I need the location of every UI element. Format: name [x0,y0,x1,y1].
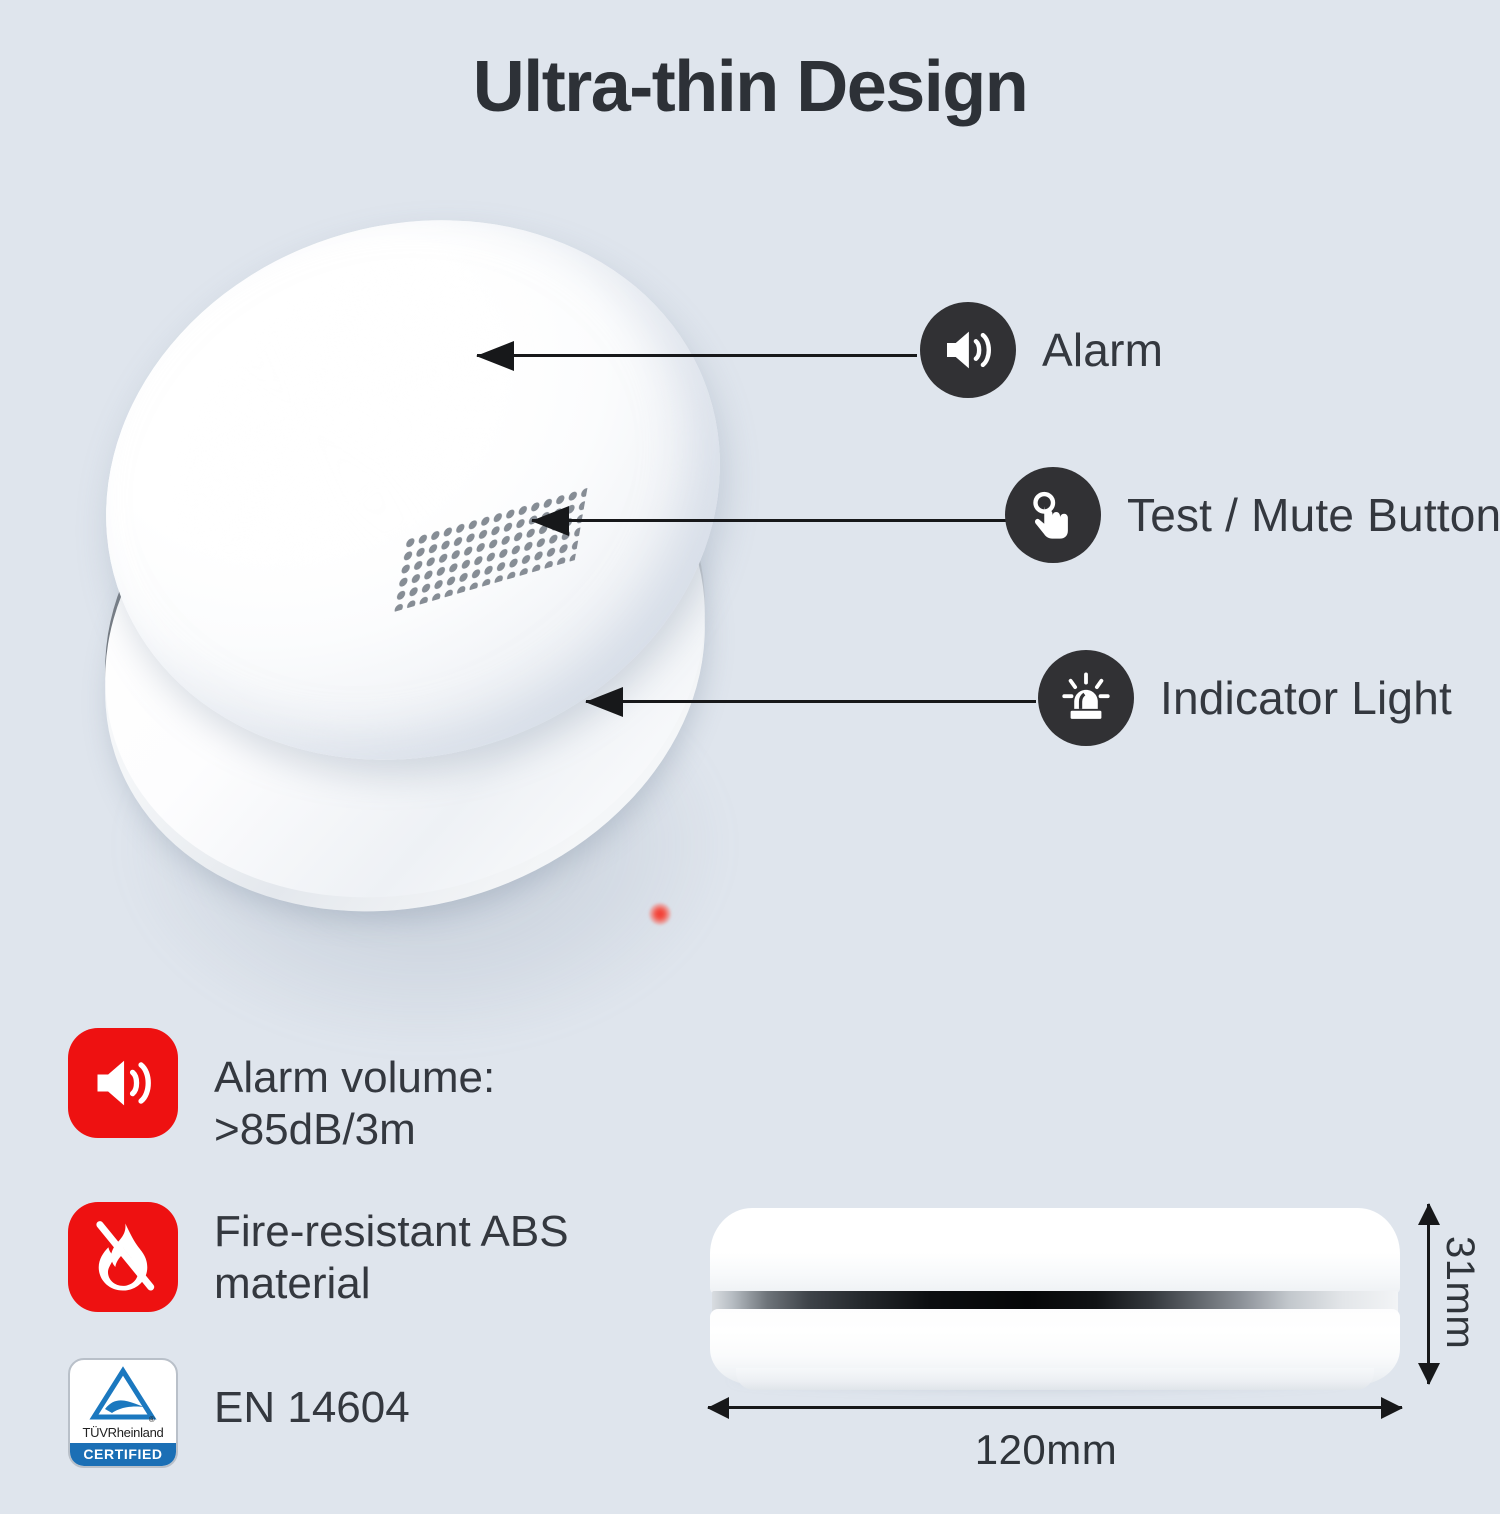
registered-trademark-icon: ® [149,1415,155,1424]
callout-indicator-light[interactable]: Indicator Light [1038,650,1452,746]
side-view-dimension-diagram: 31mm 120mm [690,1180,1480,1480]
dimension-arrow-width [708,1406,1402,1409]
page-title: Ultra-thin Design [0,46,1500,128]
feature-list: Alarm volume: >85dB/3m Fire-resistant AB… [68,1028,768,1514]
feature-label-alarm-volume: Alarm volume: >85dB/3m [214,1028,684,1156]
feature-certification[interactable]: TÜVRheinland ® CERTIFIED EN 14604 [68,1358,768,1468]
speaker-volume-icon [68,1028,178,1138]
tuv-mark: TÜVRheinland ® [70,1360,176,1443]
side-view-product [710,1208,1400,1366]
dimension-label-height: 31mm [1437,1236,1482,1349]
feature-label-certification: EN 14604 [214,1358,410,1434]
indicator-led-light [649,903,671,925]
callout-label-test-mute-button: Test / Mute Button [1127,488,1500,542]
callout-label-alarm: Alarm [1042,323,1163,377]
tuv-rheinland-certified-badge: TÜVRheinland ® CERTIFIED [68,1358,178,1468]
speaker-volume-icon [920,302,1016,398]
product-highlight [115,185,597,646]
side-view-foot [736,1368,1374,1390]
feature-fire-resistant[interactable]: Fire-resistant ABS material [68,1202,768,1312]
feature-label-fire-resistant: Fire-resistant ABS material [214,1202,684,1310]
side-view-top-cover [710,1208,1400,1294]
leader-line-indicator-light [586,700,1036,703]
tap-touch-hand-icon [1005,467,1101,563]
leader-line-test-mute [532,519,1017,522]
dimension-arrow-height [1427,1204,1430,1384]
siren-beacon-icon [1038,650,1134,746]
callout-test-mute-button[interactable]: Test / Mute Button [1005,467,1500,563]
feature-alarm-volume[interactable]: Alarm volume: >85dB/3m [68,1028,768,1156]
callout-label-indicator-light: Indicator Light [1160,671,1452,725]
tuv-certified-banner: CERTIFIED [70,1443,176,1466]
infographic-root: Ultra-thin Design Alarm [0,0,1500,1500]
leader-line-alarm [477,354,917,357]
tuv-wordmark: TÜVRheinland ® [83,1425,164,1440]
dimension-label-width: 120mm [690,1426,1402,1474]
hero-product-image [90,215,810,945]
no-fire-flame-icon [68,1202,178,1312]
callout-alarm[interactable]: Alarm [920,302,1163,398]
tuv-wordmark-text: TÜVRheinland [83,1425,164,1440]
